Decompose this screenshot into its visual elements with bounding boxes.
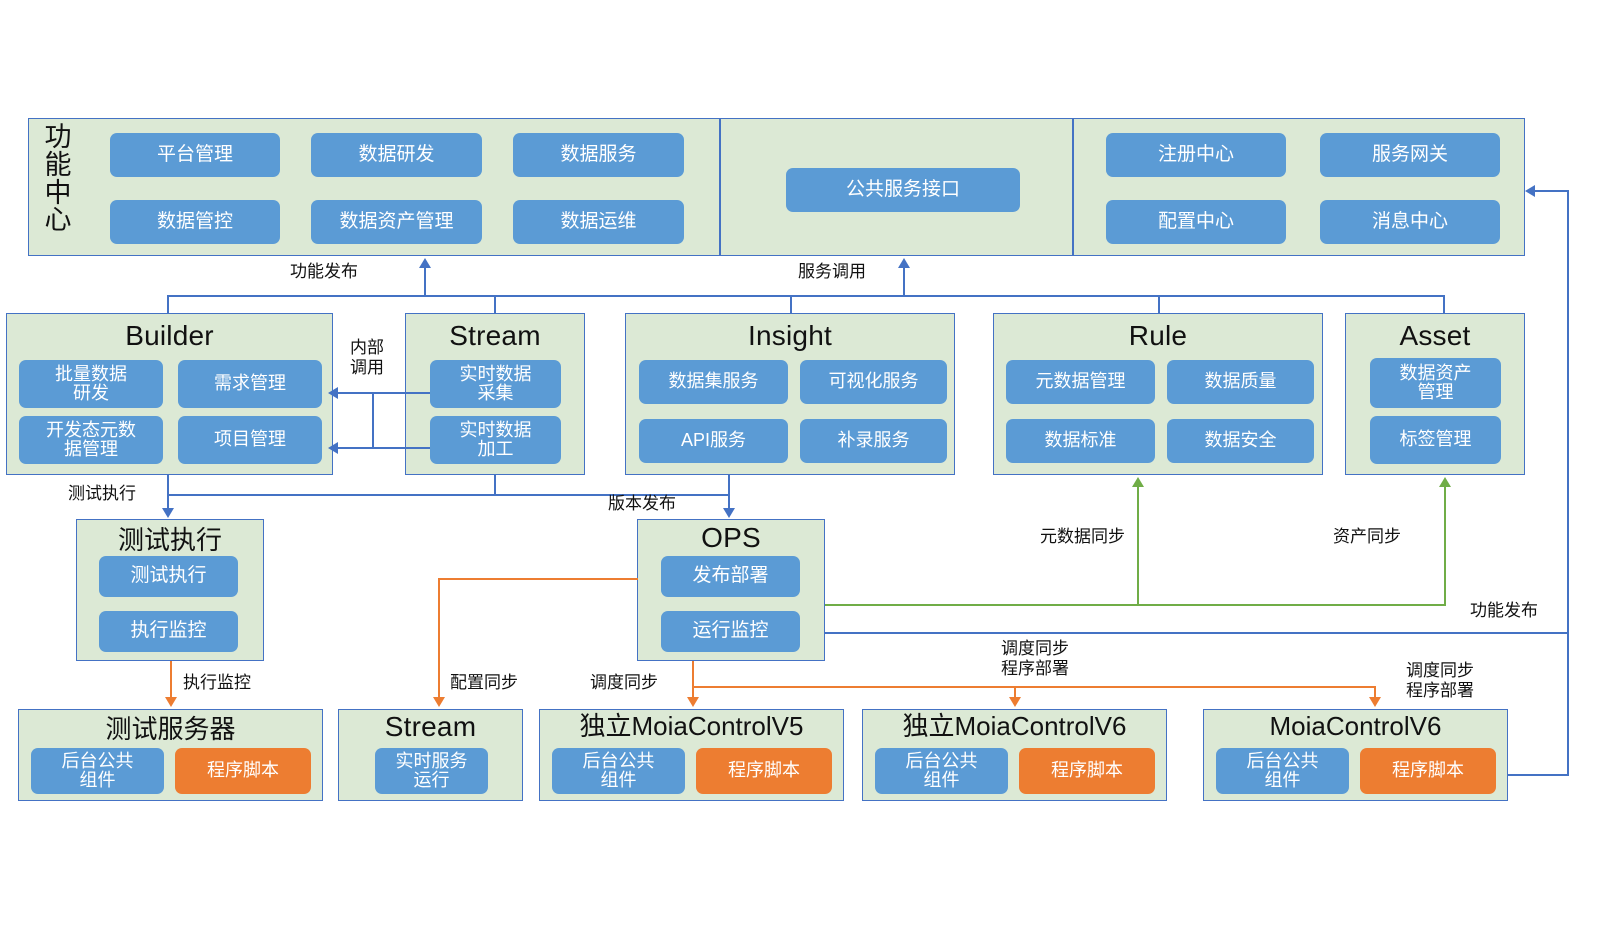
- arrow-asset-sync-up: [1439, 477, 1451, 487]
- conn-riser-stream: [494, 295, 496, 314]
- conn-internal-call-h2: [337, 447, 430, 449]
- chip-public-service-interface[interactable]: 公共服务接口: [786, 168, 1020, 212]
- chip-config-center[interactable]: 配置中心: [1106, 200, 1286, 244]
- panel-standalone-moiacontrolv5-title: 独立MoiaControlV5: [539, 713, 844, 739]
- panel-moiacontrolv6-title: MoiaControlV6: [1203, 713, 1508, 739]
- panel-insight-title: Insight: [625, 322, 955, 350]
- label-func-publish-top: 功能发布: [290, 262, 358, 282]
- conn-exec-monitor-vert: [170, 661, 172, 699]
- conn-insight-down: [728, 475, 730, 494]
- arrow-sched-sync-v5: [687, 697, 699, 707]
- arrow-exec-monitor-down: [165, 697, 177, 707]
- panel-standalone-moiacontrolv6-title: 独立MoiaControlV6: [862, 713, 1167, 739]
- panel-asset-title: Asset: [1345, 322, 1525, 350]
- label-sched-sync-deploy: 调度同步 程序部署: [965, 639, 1105, 679]
- arrow-version-publish-down: [723, 508, 735, 518]
- chip-data-service[interactable]: 数据服务: [513, 133, 684, 177]
- chip-dataset-service[interactable]: 数据集服务: [639, 360, 788, 404]
- conn-config-sync-h: [438, 578, 638, 580]
- chip-message-center[interactable]: 消息中心: [1320, 200, 1500, 244]
- chip-program-script-4[interactable]: 程序脚本: [1360, 748, 1496, 794]
- label-func-publish-right: 功能发布: [1470, 601, 1538, 621]
- chip-data-governance[interactable]: 数据管控: [110, 200, 280, 244]
- conn-green-to-asset: [1444, 486, 1446, 605]
- conn-right-loop-vert: [1567, 190, 1569, 776]
- chip-execution-monitoring[interactable]: 执行监控: [99, 611, 238, 652]
- arrow-internal-call-1: [328, 387, 338, 399]
- chip-service-gateway[interactable]: 服务网关: [1320, 133, 1500, 177]
- conn-riser-asset: [1443, 295, 1445, 314]
- arrow-func-publish-right: [1525, 185, 1535, 197]
- conn-sched-bus: [692, 686, 1374, 688]
- conn-config-sync-v: [438, 578, 440, 699]
- chip-test-execution[interactable]: 测试执行: [99, 556, 238, 597]
- panel-test-execution-title: 测试执行: [76, 527, 264, 553]
- label-sched-sync-deploy2: 调度同步 程序部署: [1370, 661, 1510, 701]
- chip-supplementary-service[interactable]: 补录服务: [800, 419, 947, 463]
- architecture-diagram: 功能中心 平台管理 数据研发 数据服务 数据管控 数据资产管理 数据运维 公共服…: [0, 0, 1611, 940]
- conn-stream-down: [494, 475, 496, 494]
- chip-metadata-management[interactable]: 元数据管理: [1006, 360, 1155, 404]
- arrow-internal-call-2: [328, 442, 338, 454]
- conn-builder-down: [167, 475, 169, 509]
- chip-api-service[interactable]: API服务: [639, 419, 788, 463]
- conn-arrow-stem-service-call: [903, 266, 905, 295]
- conn-green-to-rule: [1137, 486, 1139, 605]
- chip-project-management[interactable]: 项目管理: [178, 416, 322, 464]
- conn-internal-call-vert: [372, 392, 374, 448]
- label-version-publish: 版本发布: [608, 494, 676, 514]
- arrow-test-exec-down: [162, 508, 174, 518]
- chip-visualization-service[interactable]: 可视化服务: [800, 360, 947, 404]
- chip-backend-common-components-1[interactable]: 后台公共 组件: [31, 748, 164, 794]
- chip-registry-center[interactable]: 注册中心: [1106, 133, 1286, 177]
- chip-runtime-monitoring[interactable]: 运行监控: [661, 611, 800, 652]
- chip-backend-common-components-3[interactable]: 后台公共 组件: [875, 748, 1008, 794]
- chip-data-security[interactable]: 数据安全: [1167, 419, 1314, 463]
- conn-internal-call-h1: [337, 392, 430, 394]
- arrow-service-call-up: [898, 258, 910, 268]
- conn-riser-rule: [1158, 295, 1160, 314]
- function-center-side-label: 功能中心: [42, 124, 74, 235]
- chip-realtime-data-processing[interactable]: 实时数据 加工: [430, 416, 561, 464]
- chip-realtime-service-running[interactable]: 实时服务 运行: [375, 748, 488, 794]
- chip-platform-management[interactable]: 平台管理: [110, 133, 280, 177]
- conn-right-loop-h-top: [825, 632, 1569, 634]
- chip-program-script-3[interactable]: 程序脚本: [1019, 748, 1155, 794]
- panel-ops-title: OPS: [637, 524, 825, 552]
- label-metadata-sync: 元数据同步: [1040, 527, 1125, 547]
- conn-arrow-stem-func-publish: [424, 266, 426, 295]
- chip-data-asset-mgmt[interactable]: 数据资产 管理: [1370, 358, 1501, 408]
- chip-data-asset-management[interactable]: 数据资产管理: [311, 200, 482, 244]
- top-band-divider-1: [719, 119, 721, 255]
- chip-program-script-2[interactable]: 程序脚本: [696, 748, 832, 794]
- arrow-metadata-sync-up: [1132, 477, 1144, 487]
- label-internal-call: 内部 调用: [338, 338, 396, 378]
- label-asset-sync: 资产同步: [1333, 527, 1401, 547]
- panel-builder-title: Builder: [6, 322, 333, 350]
- label-test-exec: 测试执行: [68, 484, 136, 504]
- arrow-sched-sync-v6: [1009, 697, 1021, 707]
- label-sched-sync: 调度同步: [590, 673, 658, 693]
- chip-realtime-data-collection[interactable]: 实时数据 采集: [430, 360, 561, 408]
- chip-dev-metadata-management[interactable]: 开发态元数 据管理: [19, 416, 163, 464]
- chip-requirement-management[interactable]: 需求管理: [178, 360, 322, 408]
- chip-backend-common-components-2[interactable]: 后台公共 组件: [552, 748, 685, 794]
- chip-data-standard[interactable]: 数据标准: [1006, 419, 1155, 463]
- chip-backend-common-components-4[interactable]: 后台公共 组件: [1216, 748, 1349, 794]
- chip-data-development[interactable]: 数据研发: [311, 133, 482, 177]
- chip-tag-management[interactable]: 标签管理: [1370, 416, 1501, 464]
- panel-test-server-title: 测试服务器: [18, 716, 323, 742]
- chip-batch-data-dev[interactable]: 批量数据 研发: [19, 360, 163, 408]
- conn-riser-builder: [167, 295, 169, 314]
- arrow-func-publish-up: [419, 258, 431, 268]
- label-service-call: 服务调用: [798, 262, 866, 282]
- top-band-divider-2: [1072, 119, 1074, 255]
- chip-data-operations[interactable]: 数据运维: [513, 200, 684, 244]
- panel-stream-server-title: Stream: [338, 713, 523, 741]
- conn-riser-insight: [790, 295, 792, 314]
- conn-right-loop-h-into-band: [1534, 190, 1569, 192]
- conn-right-loop-h-bottom: [1508, 774, 1569, 776]
- label-config-sync: 配置同步: [450, 673, 518, 693]
- chip-data-quality[interactable]: 数据质量: [1167, 360, 1314, 404]
- label-exec-monitor: 执行监控: [183, 673, 251, 693]
- conn-bus-top: [167, 295, 1444, 297]
- conn-green-bus: [825, 604, 1446, 606]
- panel-stream-title: Stream: [405, 322, 585, 350]
- arrow-config-sync-down: [433, 697, 445, 707]
- chip-release-deploy[interactable]: 发布部署: [661, 556, 800, 597]
- panel-rule-title: Rule: [993, 322, 1323, 350]
- chip-program-script-1[interactable]: 程序脚本: [175, 748, 311, 794]
- conn-sched-root-vert: [692, 661, 694, 686]
